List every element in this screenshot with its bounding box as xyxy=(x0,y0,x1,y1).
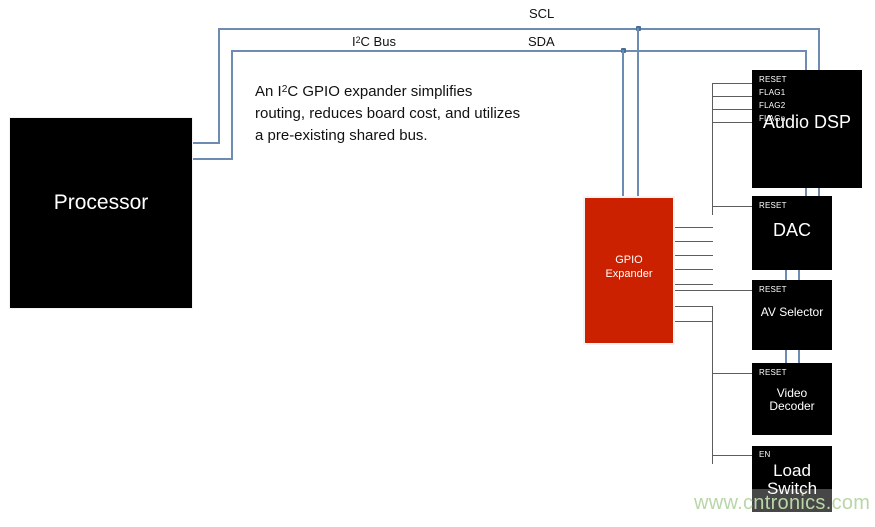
note-line2: routing, reduces board cost, and utilize… xyxy=(255,105,520,122)
gpio-riser-bottom xyxy=(712,306,713,464)
wire-sda-trunk xyxy=(231,50,807,52)
block-video-decoder[interactable]: RESET Video Decoder xyxy=(752,363,832,435)
block-av-selector[interactable]: RESET AV Selector xyxy=(752,280,832,350)
bus-label-i2c: I2C Bus xyxy=(352,34,396,49)
load-switch-pin-en: EN xyxy=(759,450,771,459)
diagram-canvas: Processor GPIO Expander RESET FLAG1 FLAG… xyxy=(0,0,875,527)
wire-scl-to-processor-vert xyxy=(218,28,220,144)
watermark-text: www.cntronics.com xyxy=(694,492,870,515)
note-line1-prefix: An I xyxy=(255,83,282,100)
audio-dsp-pin-flag1: FLAG1 xyxy=(759,88,785,97)
wire-scl-to-processor-horz xyxy=(192,142,220,144)
gpio-wire-dsp-flag2 xyxy=(712,109,753,110)
wire-i2c-col-a-avs-vdec xyxy=(785,350,787,364)
gpio-wire-dsp-flag1 xyxy=(712,96,753,97)
i2c-suffix: C Bus xyxy=(361,34,396,49)
av-selector-pin-reset: RESET xyxy=(759,285,787,294)
wire-sda-to-dsp-vert xyxy=(805,50,807,72)
gpio-stub-6 xyxy=(673,306,713,307)
gpio-expander-label: GPIO Expander xyxy=(585,254,673,282)
av-selector-label: AV Selector xyxy=(752,306,832,319)
gpio-riser-top xyxy=(712,83,713,215)
block-audio-dsp[interactable]: RESET FLAG1 FLAG2 FLAGn Audio DSP xyxy=(752,70,862,188)
gpio-stub-5 xyxy=(673,284,713,285)
gpio-stub-3 xyxy=(673,255,713,256)
wire-scl-to-dsp-vert xyxy=(818,28,820,72)
gpio-wire-loadswitch-en xyxy=(712,455,753,456)
video-decoder-pin-reset: RESET xyxy=(759,368,787,377)
explanatory-note: An I2C GPIO expander simplifiesrouting, … xyxy=(255,81,585,148)
gpio-stub-7 xyxy=(673,321,713,322)
gpio-stub-2 xyxy=(673,241,713,242)
block-dac[interactable]: RESET DAC xyxy=(752,196,832,270)
note-superscript: 2 xyxy=(282,84,288,95)
i2c-superscript: 2 xyxy=(356,35,361,45)
audio-dsp-pin-reset: RESET xyxy=(759,75,787,84)
dac-label: DAC xyxy=(752,221,832,240)
wire-sda-to-gpio xyxy=(622,50,624,200)
note-line3: a pre-existing shared bus. xyxy=(255,127,428,144)
dac-pin-reset: RESET xyxy=(759,201,787,210)
gpio-wire-videodecoder-reset xyxy=(712,373,753,374)
wire-i2c-col-b-avs-vdec xyxy=(798,350,800,364)
block-gpio-expander[interactable]: GPIO Expander xyxy=(585,198,673,343)
audio-dsp-pin-flag2: FLAG2 xyxy=(759,101,785,110)
video-decoder-label: Video Decoder xyxy=(752,387,832,412)
wire-scl-to-gpio xyxy=(637,28,639,200)
bus-label-sda: SDA xyxy=(528,34,555,49)
audio-dsp-label: Audio DSP xyxy=(752,113,862,132)
block-processor[interactable]: Processor xyxy=(10,118,192,308)
wire-sda-to-processor-horz xyxy=(192,158,233,160)
gpio-wire-avselector-reset xyxy=(673,290,753,291)
gpio-wire-dsp-flagn xyxy=(712,122,753,123)
gpio-wire-dac-reset xyxy=(712,206,753,207)
wire-sda-to-processor-vert xyxy=(231,50,233,160)
bus-label-scl: SCL xyxy=(529,6,554,21)
gpio-wire-dsp-reset xyxy=(712,83,753,84)
note-line1-suffix: C GPIO expander simplifies xyxy=(287,83,472,100)
gpio-stub-1 xyxy=(673,227,713,228)
processor-label: Processor xyxy=(10,192,192,214)
gpio-stub-4 xyxy=(673,269,713,270)
wire-scl-trunk xyxy=(218,28,820,30)
